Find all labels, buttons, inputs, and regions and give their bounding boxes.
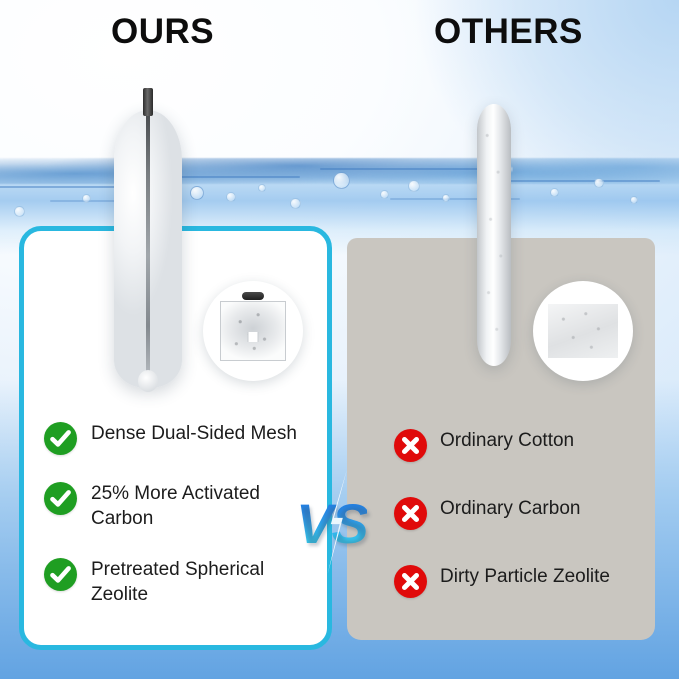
list-item: Dirty Particle Zeolite <box>394 564 652 598</box>
cross-circle-icon <box>394 429 427 462</box>
page-title-ours: OURS <box>111 12 214 52</box>
cross-circle-icon <box>394 497 427 530</box>
feature-label: Ordinary Cotton <box>440 428 574 453</box>
feature-label: Dirty Particle Zeolite <box>440 564 610 589</box>
ours-filter-cartridge-image <box>114 88 182 388</box>
others-loose-cotton-closeup <box>533 281 633 381</box>
others-cotton-stick-image <box>477 104 511 366</box>
list-item: Dense Dual-Sided Mesh <box>44 421 312 455</box>
loose-cotton-swatch <box>548 304 618 358</box>
vs-badge: VS <box>296 486 384 562</box>
list-item: Pretreated Spherical Zeolite <box>44 557 312 607</box>
check-circle-icon <box>44 422 77 455</box>
check-circle-icon <box>44 558 77 591</box>
feature-label: 25% More Activated Carbon <box>91 481 312 531</box>
ours-dense-mesh-closeup <box>203 281 303 381</box>
ours-feature-list: Dense Dual-Sided Mesh 25% More Activated… <box>44 421 312 607</box>
cross-circle-icon <box>394 565 427 598</box>
feature-label: Ordinary Carbon <box>440 496 580 521</box>
list-item: 25% More Activated Carbon <box>44 481 312 531</box>
cartridge-tip <box>138 370 158 392</box>
comparison-infographic: OURS OTHERS Dense Dual-Sided Mesh <box>0 0 679 679</box>
cartridge-seam <box>146 114 150 386</box>
check-circle-icon <box>44 482 77 515</box>
cotton-stick-texture <box>477 104 511 366</box>
mesh-swatch-notch <box>248 332 259 342</box>
dense-mesh-swatch <box>220 301 286 361</box>
others-feature-list: Ordinary Cotton Ordinary Carbon Dirty Pa… <box>394 428 652 632</box>
feature-label: Dense Dual-Sided Mesh <box>91 421 297 446</box>
list-item: Ordinary Cotton <box>394 428 652 462</box>
cartridge-cap <box>143 88 153 116</box>
list-item: Ordinary Carbon <box>394 496 652 530</box>
feature-label: Pretreated Spherical Zeolite <box>91 557 312 607</box>
mesh-swatch-clip <box>242 292 264 300</box>
page-title-others: OTHERS <box>434 12 583 52</box>
